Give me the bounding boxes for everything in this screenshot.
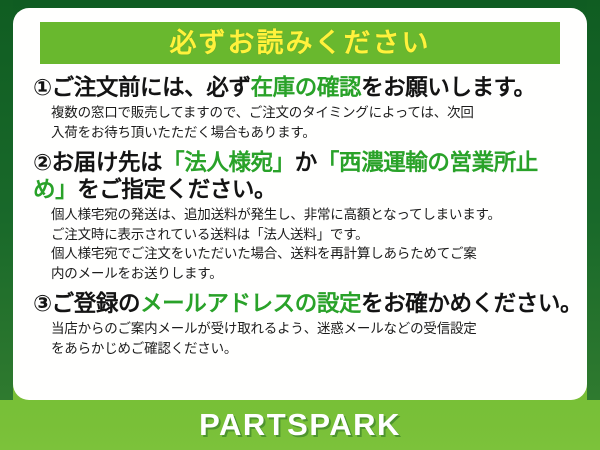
notice-heading-text: ご登録の [52,291,140,316]
notice-item-description: 複数の窓口で販売してますので、ご注文のタイミングによっては、次回入荷をお待ち頂い… [51,103,567,142]
notice-description-line: 個人様宅宛の発送は、追加送料が発生し、非常に高額となってしまいます。 [51,205,567,225]
notice-heading-accent-text: 「法人様宛」 [162,150,295,175]
notice-description-line: 複数の窓口で販売してますので、ご注文のタイミングによっては、次回 [51,103,567,123]
notice-item-number: ② [33,150,52,175]
brand-footer: PARTSPARK [0,400,600,450]
notice-heading-text: か [295,150,317,175]
notice-item-heading: ②お届け先は「法人様宛」か「西濃運輸の営業所止め」をご指定ください。 [33,149,567,203]
notice-item: ①ご注文前には、必ず在庫の確認をお願いします。複数の窓口で販売してますので、ご注… [33,74,567,142]
page-title: 必ずお読みください [170,30,431,57]
notice-item-description: 個人様宅宛の発送は、追加送料が発生し、非常に高額となってしまいます。ご注文時に表… [51,205,567,283]
right-border-rail [587,0,600,400]
notice-heading-text: をお確かめください。 [361,291,582,316]
notice-description-line: 内のメールをお送りします。 [51,264,567,284]
notice-description-line: 当店からのご案内メールが受け取れるよう、迷惑メールなどの受信設定 [51,319,567,339]
notice-description-line: 個人様宅宛でご注文をいただいた場合、送料を再計算しあらためてご案 [51,244,567,264]
notice-card: 必ずお読みください ①ご注文前には、必ず在庫の確認をお願いします。複数の窓口で販… [13,8,587,400]
notice-item-heading: ③ご登録のメールアドレスの設定をお確かめください。 [33,290,567,317]
notice-heading-text: をお願いします。 [361,75,536,100]
notice-heading-accent-text: メールアドレスの設定 [140,291,361,316]
notice-items-list: ①ご注文前には、必ず在庫の確認をお願いします。複数の窓口で販売してますので、ご注… [29,74,571,359]
notice-description-line: 入荷をお待ち頂いたただく場合もあります。 [51,123,567,143]
notice-description-line: をあらかじめご確認ください。 [51,339,567,359]
notice-item-number: ③ [33,291,52,316]
notice-heading-accent-text: 在庫の確認 [251,75,362,100]
notice-heading-text: をご指定ください。 [77,177,276,202]
notice-poster: 必ずお読みください ①ご注文前には、必ず在庫の確認をお願いします。複数の窓口で販… [0,0,600,450]
header-banner: 必ずお読みください [40,22,560,64]
notice-item: ③ご登録のメールアドレスの設定をお確かめください。当店からのご案内メールが受け取… [33,290,567,358]
notice-description-line: ご注文時に表示されている送料は「法人送料」です。 [51,225,567,245]
notice-item-number: ① [33,75,52,100]
notice-heading-text: お届け先は [52,150,163,175]
notice-item-heading: ①ご注文前には、必ず在庫の確認をお願いします。 [33,74,567,101]
notice-heading-text: ご注文前には、必ず [52,75,251,100]
left-border-rail [0,0,13,400]
notice-item-description: 当店からのご案内メールが受け取れるよう、迷惑メールなどの受信設定をあらかじめご確… [51,319,567,358]
notice-item: ②お届け先は「法人様宛」か「西濃運輸の営業所止め」をご指定ください。個人様宅宛の… [33,149,567,283]
brand-name: PARTSPARK [199,407,401,443]
